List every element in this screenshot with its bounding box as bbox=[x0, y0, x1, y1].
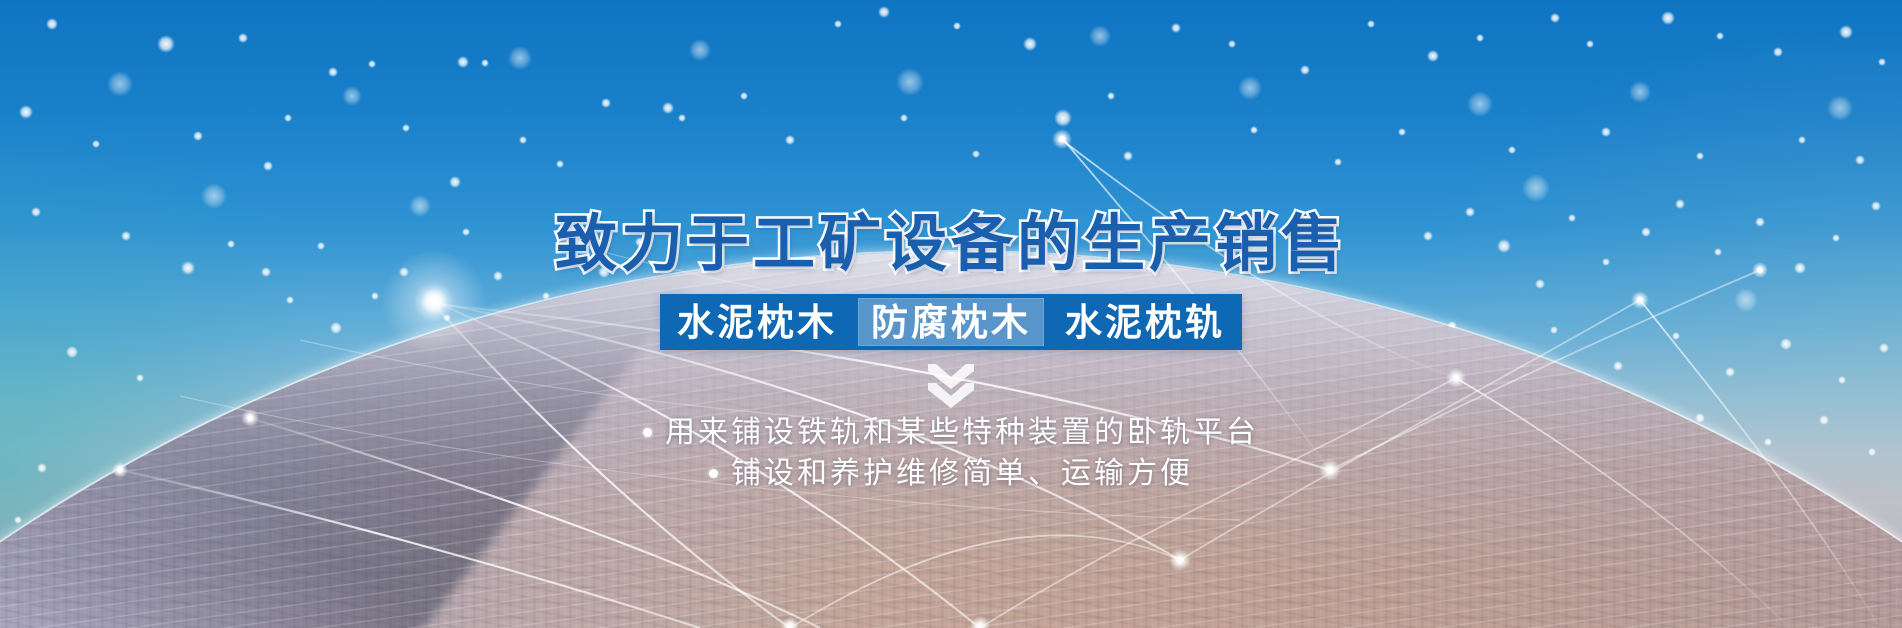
product-keyword-bar: 水泥枕木 防腐枕木 水泥枕轨 bbox=[660, 294, 1242, 350]
feature-bullet-list: 用来铺设铁轨和某些特种装置的卧轨平台 铺设和养护维修简单、运输方便 bbox=[0, 412, 1902, 495]
hero-banner: 致力于工矿设备的生产销售 水泥枕木 防腐枕木 水泥枕轨 用来铺设铁轨和某些特种装… bbox=[0, 0, 1902, 628]
bullet-text: 用来铺设铁轨和某些特种装置的卧轨平台 bbox=[665, 416, 1259, 449]
bullet-text: 铺设和养护维修简单、运输方便 bbox=[731, 457, 1193, 490]
product-keyword-1: 水泥枕木 bbox=[660, 294, 854, 350]
bullet-dot-icon bbox=[643, 428, 652, 437]
double-chevron-down-icon bbox=[928, 364, 974, 408]
product-keyword-2-highlighted: 防腐枕木 bbox=[858, 298, 1044, 346]
bullet-dot-icon bbox=[709, 469, 718, 478]
list-item: 铺设和养护维修简单、运输方便 bbox=[0, 453, 1902, 494]
page-title: 致力于工矿设备的生产销售 bbox=[0, 214, 1902, 276]
list-item: 用来铺设铁轨和某些特种装置的卧轨平台 bbox=[0, 412, 1902, 453]
banner-content: 致力于工矿设备的生产销售 水泥枕木 防腐枕木 水泥枕轨 用来铺设铁轨和某些特种装… bbox=[0, 0, 1902, 628]
product-keyword-3: 水泥枕轨 bbox=[1048, 294, 1242, 350]
